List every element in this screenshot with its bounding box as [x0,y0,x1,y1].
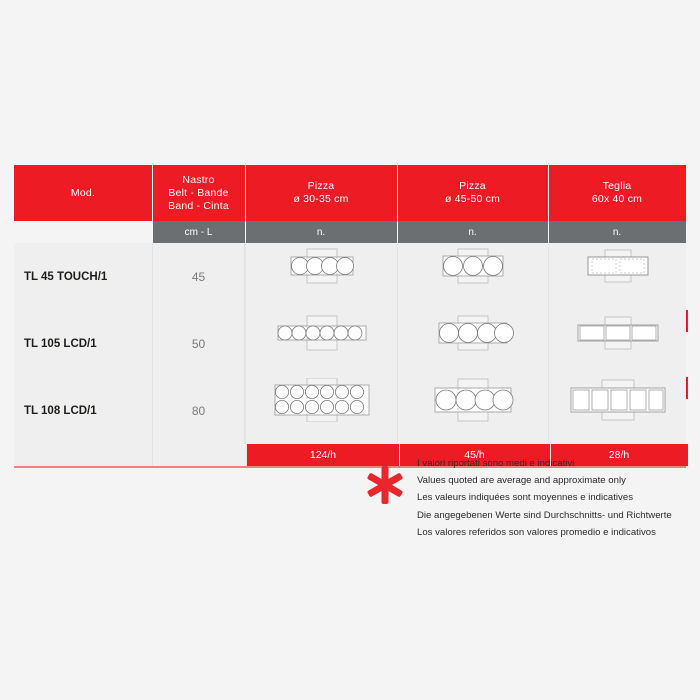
belt-value: 45 [192,270,205,284]
header-cell-belt: Nastro Belt - Bande Band - Cinta [152,165,245,221]
table-subheader-row: cm - L n. n. n. [14,221,686,243]
footnote-line-es: Los valores referidos son valores promed… [417,524,672,541]
cell-pizza30 [245,310,397,377]
footnote-block: I valori riportati sono medi e indicativ… [363,455,672,541]
subheader-label-belt: cm - L [185,227,213,238]
pizza-layout-6-diagram [246,310,397,355]
footnote-lines: I valori riportati sono medi e indicativ… [417,455,672,541]
table-row: TL 108 LCD/1 80 [14,377,686,444]
table-row: TL 45 TOUCH/1 45 [14,243,686,310]
pizza-layout-4-diagram [398,310,548,355]
header-label-model: Mod. [71,187,95,200]
model-label: TL 45 TOUCH/1 [24,271,107,283]
asterisk-icon [363,463,407,507]
cell-pizza45 [397,243,548,310]
model-label: TL 108 LCD/1 [24,405,97,417]
subheader-cell-model [14,221,152,243]
rate-value: 124/h [310,449,336,461]
cell-pizza30 [245,377,397,444]
cell-model: TL 45 TOUCH/1 [14,243,152,310]
cell-teglia [548,243,686,310]
footnote-line-de: Die angegebenen Werte sind Durchschnitts… [417,507,672,524]
subheader-label-pizza45: n. [468,227,476,238]
header-cell-pizza45: Pizza ø 45-50 cm [397,165,548,221]
pizza-layout-12-diagram [246,377,397,422]
rate-spacer-belt [152,444,247,466]
footnote-line-en: Values quoted are average and approximat… [417,472,672,489]
pizza-layout-3-diagram [398,243,548,288]
footnote-line-it: I valori riportati sono medi e indicativ… [417,455,672,472]
header-label-pizza45-1: Pizza [445,180,500,193]
subheader-cell-teglia: n. [548,221,686,243]
footnote-line-fr: Les valeurs indiquées sont moyennes e in… [417,489,672,506]
header-label-belt-2: Belt - Bande [168,187,229,200]
header-cell-teglia: Teglia 60x 40 cm [548,165,686,221]
cell-belt-width: 45 [152,243,245,310]
cell-pizza45 [397,377,548,444]
header-label-pizza45-2: ø 45-50 cm [445,193,500,206]
subheader-cell-belt: cm - L [152,221,245,243]
header-label-belt-1: Nastro [168,174,229,187]
tray-layout-5-diagram [549,377,686,422]
header-label-pizza30-1: Pizza [293,180,348,193]
cell-pizza45 [397,310,548,377]
pizza-layout-4-diagram [246,243,397,288]
page-root: Mod. Nastro Belt - Bande Band - Cinta Pi… [0,0,700,700]
table-header-row: Mod. Nastro Belt - Bande Band - Cinta Pi… [14,165,686,221]
subheader-label-pizza30: n. [317,227,325,238]
tray-layout-3-diagram [549,310,686,355]
header-label-belt-3: Band - Cinta [168,200,229,213]
model-label: TL 105 LCD/1 [24,338,97,350]
header-label-pizza30-2: ø 30-35 cm [293,193,348,206]
specifications-table: Mod. Nastro Belt - Bande Band - Cinta Pi… [14,165,686,444]
table-row: TL 105 LCD/1 50 [14,310,686,377]
tray-layout-2-diagram [549,243,686,288]
cell-model: TL 105 LCD/1 [14,310,152,377]
belt-value: 80 [192,404,205,418]
rate-spacer-model [14,444,152,466]
cell-belt-width: 80 [152,377,245,444]
cell-teglia [548,377,686,444]
cell-pizza30 [245,243,397,310]
subheader-cell-pizza30: n. [245,221,397,243]
cell-teglia [548,310,686,377]
pizza-layout-4b-diagram [398,377,548,422]
header-cell-model: Mod. [14,165,152,221]
cell-model: TL 108 LCD/1 [14,377,152,444]
belt-value: 50 [192,337,205,351]
subheader-cell-pizza45: n. [397,221,548,243]
cell-belt-width: 50 [152,310,245,377]
header-label-teglia-1: Teglia [592,180,642,193]
header-cell-pizza30: Pizza ø 30-35 cm [245,165,397,221]
header-label-teglia-2: 60x 40 cm [592,193,642,206]
subheader-label-teglia: n. [613,227,621,238]
